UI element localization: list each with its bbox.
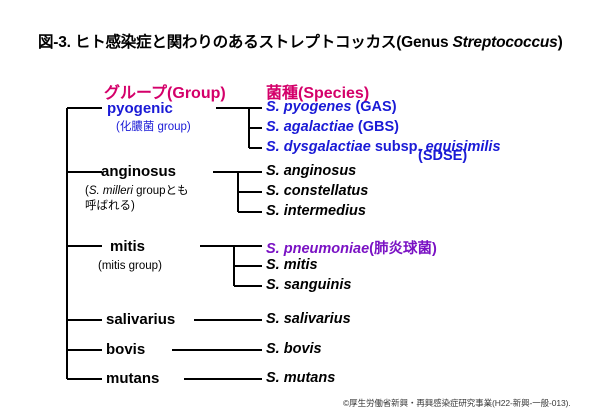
species-s-mitis: S. mitis (266, 257, 318, 273)
species-s-pyogenes: S. pyogenes (GAS) (266, 99, 397, 115)
species-s-bovis: S. bovis (266, 341, 322, 357)
species-s-mutans: S. mutans (266, 370, 335, 386)
species-s-sanguinis: S. sanguinis (266, 277, 351, 293)
figure-footer: ©厚生労働省新興・再興感染症研究事業(H22-新興-一般-013). (343, 397, 571, 409)
group-sublabel-anginosus-line2: 呼ばれる) (85, 199, 135, 213)
species-s-intermedius: S. intermedius (266, 203, 366, 219)
group-label-mitis: mitis (110, 238, 145, 255)
species-s-salivarius: S. salivarius (266, 311, 351, 327)
bracket-anginosus (213, 172, 262, 212)
species-s-pneumoniae-jp: (肺炎球菌) (369, 241, 437, 257)
species-s-agalactiae-name: S. agalactiae (266, 119, 358, 135)
group-label-mutans: mutans (106, 370, 159, 387)
species-s-anginosus: S. anginosus (266, 163, 356, 179)
group-sublabel-mitis: (mitis group) (98, 259, 162, 273)
species-s-pyogenes-name: S. pyogenes (266, 99, 355, 115)
species-sdse-abbrev: (SDSE) (418, 148, 467, 164)
group-sublabel-pyogenic: (化膿菌 group) (116, 120, 191, 134)
figure-title-genus: Streptococcus (453, 34, 558, 51)
figure-root: 図-3. ヒト感染症と関わりのあるストレプトコッカス(Genus Strepto… (0, 0, 600, 415)
bracket-pyogenic (216, 108, 262, 148)
species-s-pneumoniae: S. pneumoniae(肺炎球菌) (266, 237, 437, 258)
group-label-bovis: bovis (106, 341, 145, 358)
species-s-dysgalactiae-name: S. dysgalactiae (266, 139, 375, 155)
group-label-anginosus: anginosus (101, 163, 176, 180)
species-s-agalactiae: S. agalactiae (GBS) (266, 119, 399, 135)
group-label-pyogenic: pyogenic (107, 100, 173, 117)
species-s-pyogenes-code: (GAS) (355, 99, 396, 115)
species-s-constellatus: S. constellatus (266, 183, 368, 199)
figure-title: 図-3. ヒト感染症と関わりのあるストレプトコッカス(Genus Strepto… (38, 30, 563, 52)
group-label-salivarius: salivarius (106, 311, 175, 328)
group-sublabel-anginosus-line1: (S. milleri groupとも (85, 184, 189, 198)
species-s-agalactiae-code: (GBS) (358, 119, 399, 135)
group-sublabel-anginosus-italic: S. milleri (89, 185, 133, 197)
bracket-mitis (200, 246, 262, 286)
species-s-pneumoniae-name: S. pneumoniae (266, 241, 369, 257)
figure-title-prefix: 図-3. ヒト感染症と関わりのあるストレプトコッカス(Genus (38, 34, 453, 51)
figure-title-suffix: ) (558, 34, 563, 51)
